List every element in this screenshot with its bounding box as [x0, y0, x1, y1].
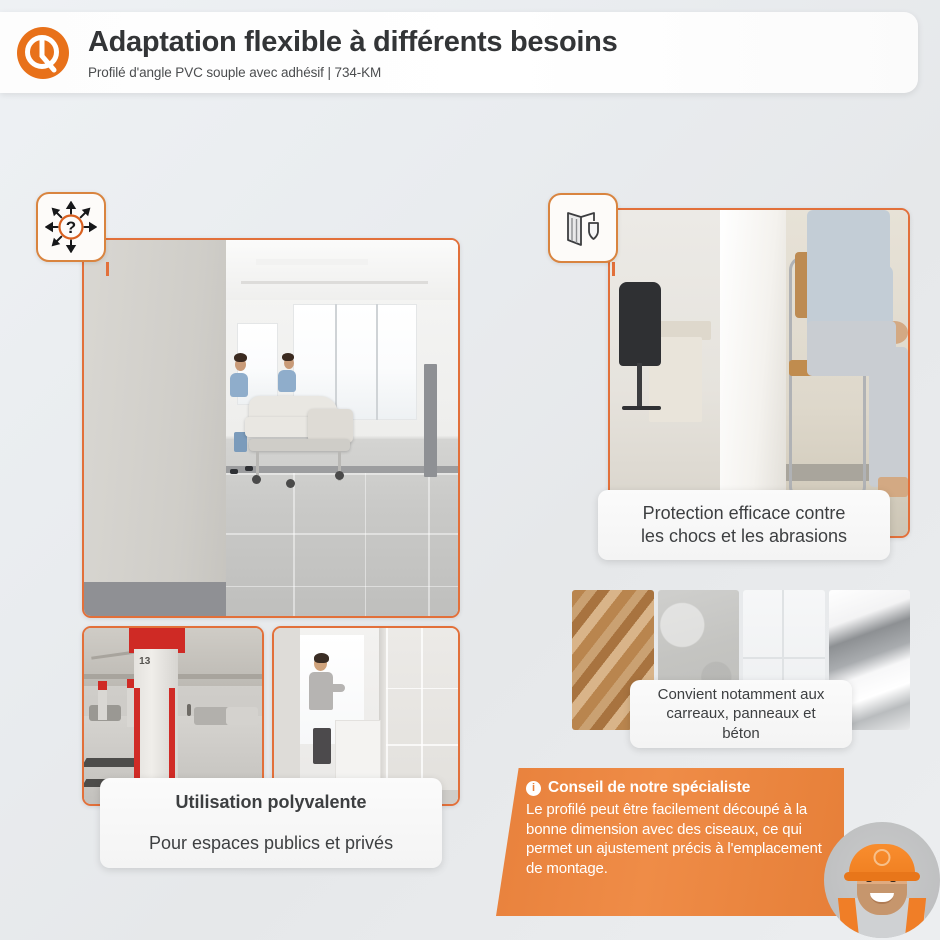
connector-line-right — [612, 262, 615, 276]
specialist-avatar — [824, 822, 940, 938]
header-text-group: Adaptation flexible à différents besoins… — [88, 25, 617, 80]
avatar-hardhat-brim — [844, 872, 920, 881]
materials-caption-line3: béton — [722, 724, 760, 743]
pillar-number-label: 13 — [139, 656, 150, 667]
flexibility-caption-title: Utilisation polyvalente — [175, 791, 366, 814]
specialist-tip-box: i Conseil de notre spécialiste Le profil… — [496, 768, 844, 916]
flexibility-caption-text: Pour espaces publics et privés — [149, 832, 393, 855]
avatar-hardhat-logo-icon — [874, 849, 891, 866]
info-icon: i — [526, 781, 541, 796]
question-arrows-icon: ? — [45, 201, 97, 253]
tip-title-row: i Conseil de notre spécialiste — [526, 779, 828, 797]
connector-line-left — [106, 262, 109, 276]
protection-caption-line2: les chocs et les abrasions — [641, 525, 847, 548]
hospital-corridor-photo — [82, 238, 460, 618]
chair-rail — [789, 360, 866, 497]
materials-caption-line1: Convient notamment aux — [658, 685, 825, 704]
page-title: Adaptation flexible à différents besoins — [88, 27, 617, 59]
protection-caption-line1: Protection efficace contre — [643, 502, 846, 525]
protection-caption: Protection efficace contre les chocs et … — [598, 490, 890, 560]
tip-body-text: Le profilé peut être facilement découpé … — [526, 800, 828, 878]
protection-icon-badge — [548, 193, 618, 263]
quellrot-q-logo-icon — [16, 26, 70, 80]
materials-caption: Convient notamment aux carreaux, panneau… — [630, 680, 852, 748]
flexibility-icon-badge: ? — [36, 192, 106, 262]
corner-profile-shield-icon — [559, 204, 607, 252]
materials-caption-line2: carreaux, panneaux et — [666, 704, 815, 723]
tip-title-text: Conseil de notre spécialiste — [548, 779, 750, 797]
svg-text:?: ? — [66, 218, 76, 237]
page-subtitle: Profilé d'angle PVC souple avec adhésif … — [88, 65, 617, 80]
header-bar: Adaptation flexible à différents besoins… — [0, 12, 918, 93]
office-corner-photo — [608, 208, 910, 538]
flexibility-caption: Utilisation polyvalente Pour espaces pub… — [100, 778, 442, 868]
